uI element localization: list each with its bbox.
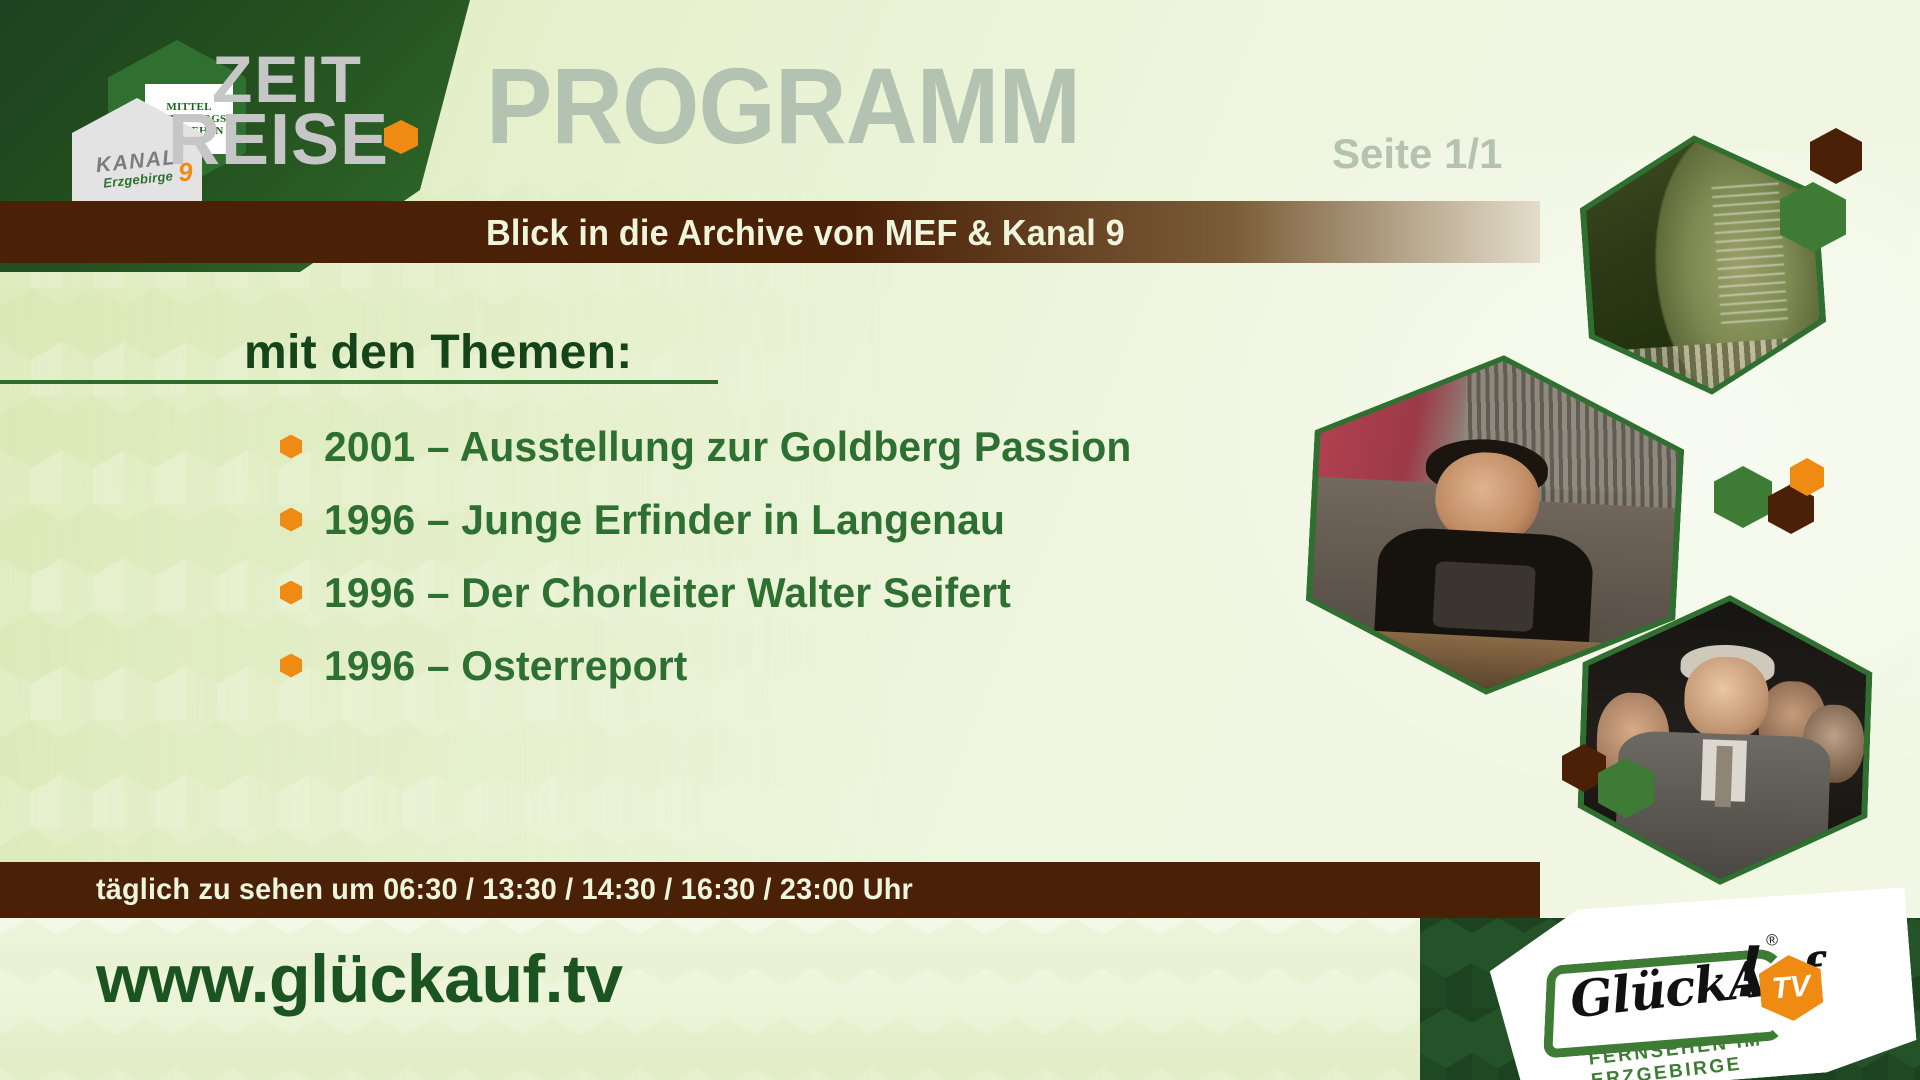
choir-conductor-audience-photo[interactable] <box>1575 590 1875 890</box>
list-item[interactable]: 1996 – Osterreport <box>280 629 1380 702</box>
registered-trademark-icon: ® <box>1766 932 1779 951</box>
list-item-label: 1996 – Osterreport <box>324 642 688 690</box>
list-item-label: 1996 – Der Chorleiter Walter Seifert <box>324 569 1011 617</box>
bullet-hexagon-icon <box>280 654 302 678</box>
subtitle-text: Blick in die Archive von MEF & Kanal 9 <box>486 212 1125 254</box>
show-title-reise: REISE <box>168 106 389 175</box>
list-item[interactable]: 1996 – Der Chorleiter Walter Seifert <box>280 556 1380 629</box>
bullet-hexagon-icon <box>280 435 302 459</box>
program-slide: MITTEL ERZGEBIRGS FERNSEHEN KANAL Erzgeb… <box>0 0 1920 1080</box>
section-heading: mit den Themen: <box>244 325 633 380</box>
list-item-label: 1996 – Junge Erfinder in Langenau <box>324 496 1005 544</box>
bullet-hexagon-icon <box>280 581 302 605</box>
topics-list: 2001 – Ausstellung zur Goldberg Passion … <box>280 410 1380 702</box>
schedule-text: täglich zu sehen um 06:30 / 13:30 / 14:3… <box>96 873 913 907</box>
glueckauf-logo-exclamation: ! <box>1736 928 1761 1013</box>
list-item-label: 2001 – Ausstellung zur Goldberg Passion <box>324 423 1131 471</box>
page-title: PROGRAMM <box>486 52 1080 160</box>
page-indicator: Seite 1/1 <box>1332 130 1502 178</box>
list-item[interactable]: 1996 – Junge Erfinder in Langenau <box>280 483 1380 556</box>
bullet-hexagon-icon <box>280 508 302 532</box>
website-url[interactable]: www.glückauf.tv <box>96 940 623 1018</box>
section-heading-underline <box>0 380 718 384</box>
list-item[interactable]: 2001 – Ausstellung zur Goldberg Passion <box>280 410 1380 483</box>
